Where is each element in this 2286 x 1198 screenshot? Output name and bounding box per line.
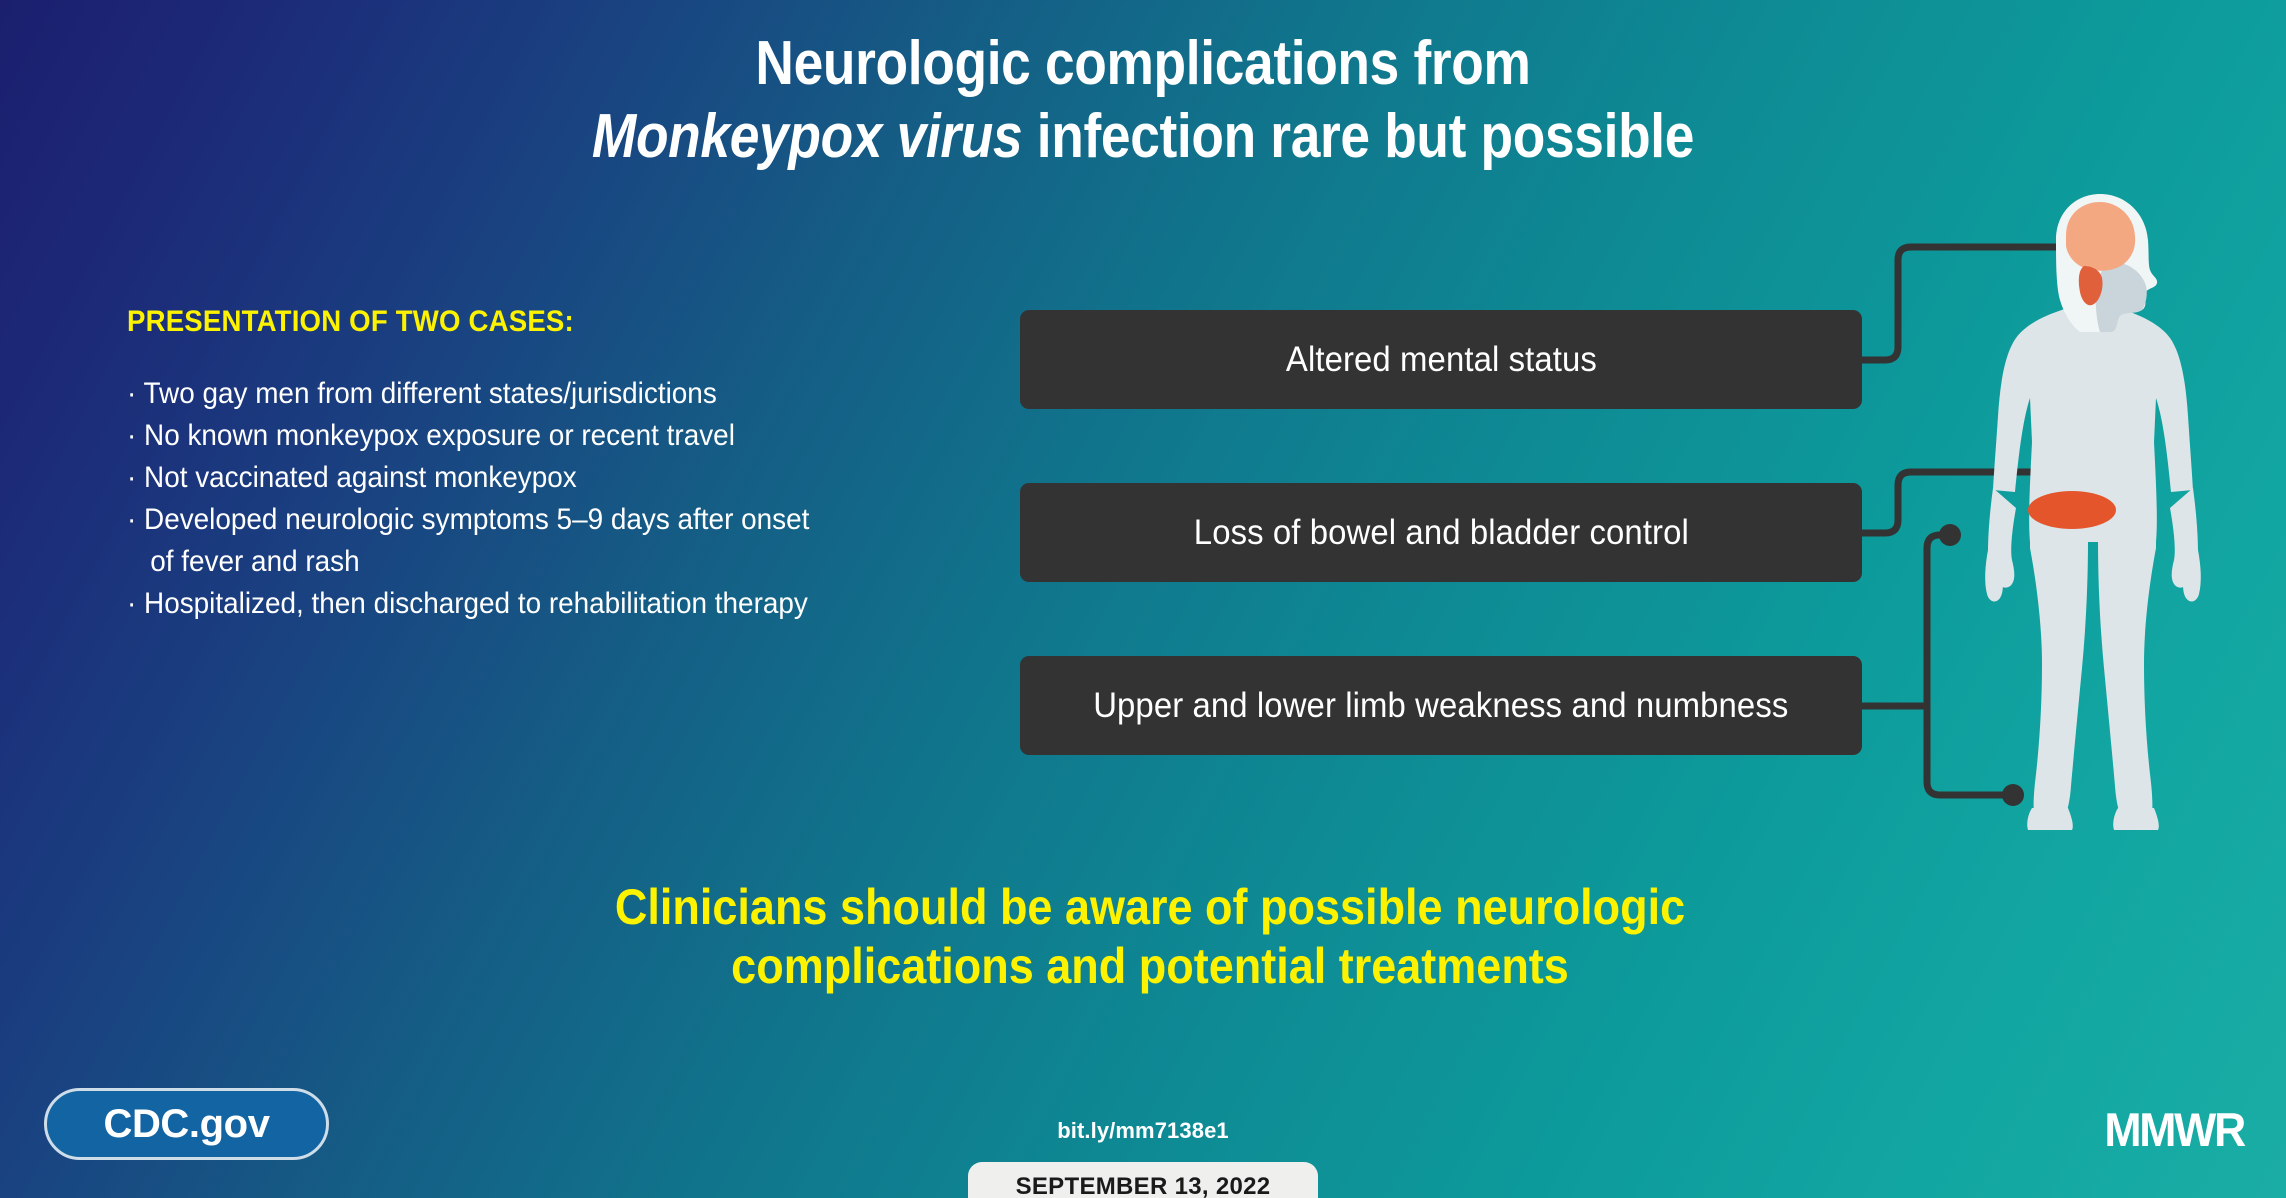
presentation-cases-section: PRESENTATION OF TWO CASES: · Two gay men… [127,305,967,625]
symptom-box-label: Upper and lower limb weakness and numbne… [1093,686,1788,726]
symptom-box-label: Altered mental status [1285,340,1596,380]
page-title: Neurologic complications from Monkeypox … [160,28,2126,173]
callout-line-1: Clinicians should be aware of possible n… [412,878,1888,937]
list-item: · Two gay men from different states/juri… [127,373,908,415]
cdc-gov-label: CDC.gov [103,1102,269,1147]
cases-heading: PRESENTATION OF TWO CASES: [127,305,900,339]
symptom-box-label: Loss of bowel and bladder control [1193,513,1688,553]
list-item: · Developed neurologic symptoms 5–9 days… [127,499,908,583]
mmwr-logo: MMWR [2104,1102,2244,1157]
title-line-2: Monkeypox virus infection rare but possi… [160,101,2126,174]
bitly-link[interactable]: bit.ly/mm7138e1 [893,1118,1393,1144]
list-item: · Hospitalized, then discharged to rehab… [127,583,908,625]
callout-message: Clinicians should be aware of possible n… [412,878,1888,996]
cdc-gov-button[interactable]: CDC.gov [44,1088,329,1160]
connector-dot-hand [1939,524,1961,546]
list-item: · Not vaccinated against monkeypox [127,457,908,499]
publication-date-label: SEPTEMBER 13, 2022 [1016,1173,1271,1198]
symptom-box-altered-mental-status[interactable]: Altered mental status [1020,310,1862,409]
human-body-illustration [1960,190,2260,835]
title-virus-name: Monkeypox virus [592,102,1022,171]
cases-bullet-list: · Two gay men from different states/juri… [127,373,967,625]
symptom-box-bowel-bladder[interactable]: Loss of bowel and bladder control [1020,483,1862,582]
connector-hand [1927,535,1948,706]
callout-line-2: complications and potential treatments [412,937,1888,996]
list-item: · No known monkeypox exposure or recent … [127,415,908,457]
title-line-2-rest: infection rare but possible [1022,102,1694,171]
pelvis-highlight [2028,491,2116,529]
infographic-canvas: Neurologic complications from Monkeypox … [0,0,2286,1198]
body-silhouette [1985,285,2201,830]
publication-date-tab: SEPTEMBER 13, 2022 [968,1162,1318,1198]
symptom-box-limb-weakness[interactable]: Upper and lower limb weakness and numbne… [1020,656,1862,755]
head-profile [2056,194,2157,332]
title-line-1: Neurologic complications from [160,28,2126,101]
